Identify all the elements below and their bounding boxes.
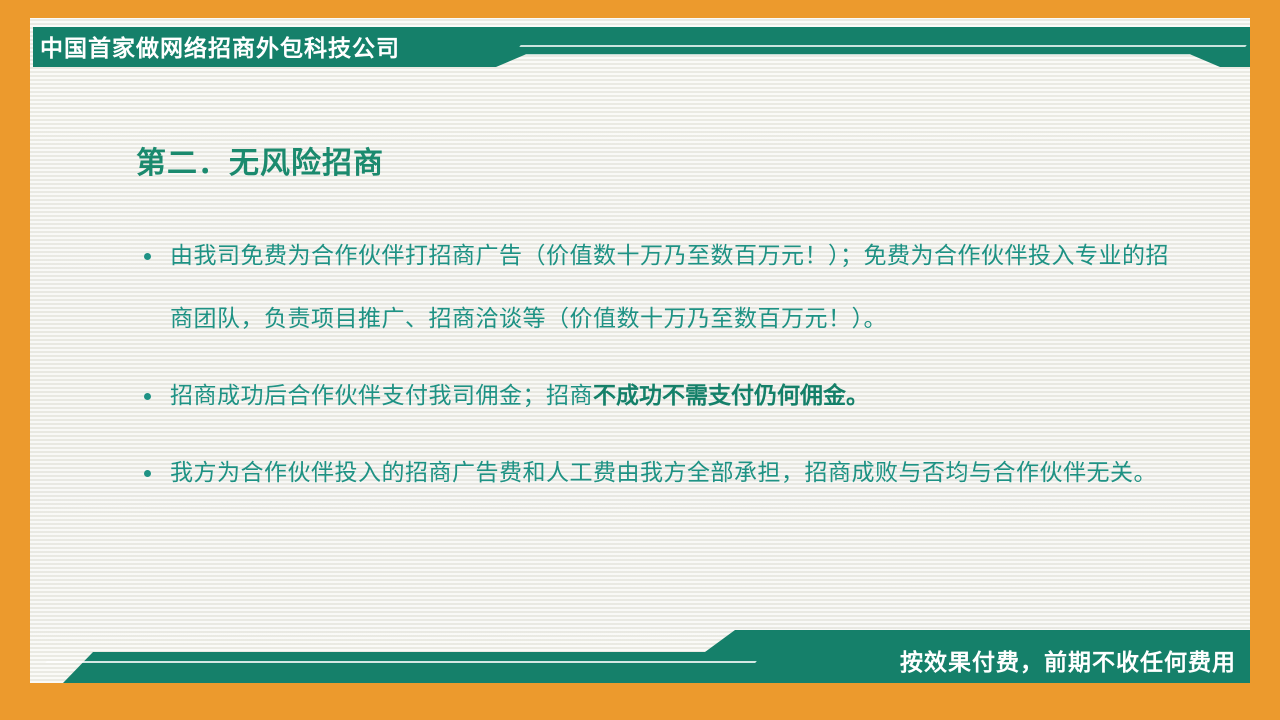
bullet-emphasis-text: 不成功不需支付仍何佣金。 (593, 382, 869, 408)
bullet-dot-icon (144, 393, 151, 400)
footer-tagline: 按效果付费，前期不收任何费用 (900, 643, 1236, 677)
slide-title: 第二．无风险招商 (136, 138, 384, 182)
bullet-list: 由我司免费为合作伙伴打招商广告（价值数十万乃至数百万元！）；免费为合作伙伴投入专… (140, 224, 1180, 518)
bullet-text: 由我司免费为合作伙伴打招商广告（价值数十万乃至数百万元！）；免费为合作伙伴投入专… (170, 243, 1169, 331)
header-hairline-divider (519, 45, 1246, 47)
list-item: 由我司免费为合作伙伴打招商广告（价值数十万乃至数百万元！）；免费为合作伙伴投入专… (140, 224, 1180, 350)
list-item: 我方为合作伙伴投入的招商广告费和人工费由我方全部承担，招商成败与否均与合作伙伴无… (140, 441, 1180, 504)
bullet-dot-icon (144, 253, 151, 260)
presentation-slide: 中国首家做网络招商外包科技公司 第二．无风险招商 由我司免费为合作伙伴打招商广告… (0, 0, 1280, 720)
bullet-dot-icon (144, 470, 151, 477)
footer-hairline-divider (45, 661, 757, 663)
company-tagline-header: 中国首家做网络招商外包科技公司 (40, 31, 480, 65)
bullet-text: 我方为合作伙伴投入的招商广告费和人工费由我方全部承担，招商成败与否均与合作伙伴无… (170, 460, 1157, 485)
bullet-text: 招商成功后合作伙伴支付我司佣金；招商 (170, 383, 593, 408)
list-item: 招商成功后合作伙伴支付我司佣金；招商不成功不需支付仍何佣金。 (140, 364, 1180, 427)
